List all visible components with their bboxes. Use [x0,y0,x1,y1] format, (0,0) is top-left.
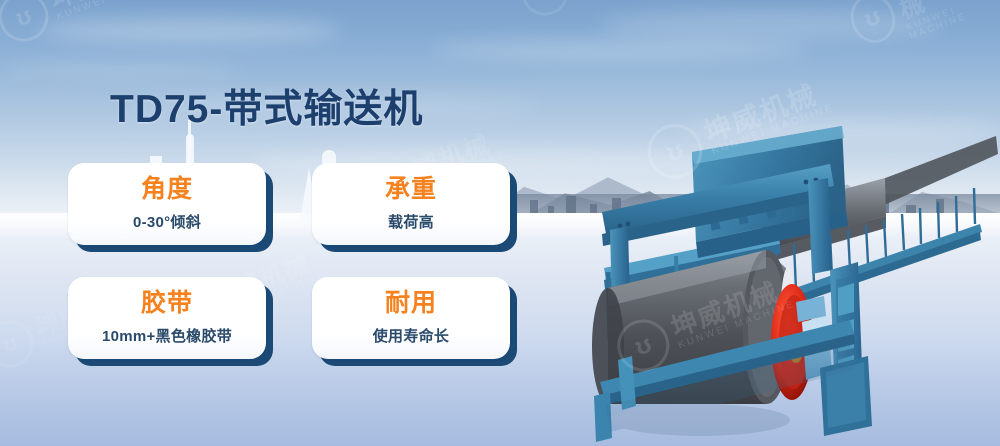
card-title: 承重 [385,176,437,204]
card-title: 角度 [141,176,193,204]
feature-card-belt[interactable]: 胶带 10mm+黑色橡胶带 [68,277,266,359]
cloud-wisp [40,18,340,44]
feature-card-angle[interactable]: 角度 0-30°倾斜 [68,163,266,245]
cloud-wisp [0,62,240,78]
conveyor-product-image [580,120,1000,446]
card-body[interactable]: 承重 载荷高 [312,163,510,245]
page-title: TD75-带式输送机 [110,78,423,134]
card-title: 耐用 [385,290,437,318]
card-title: 胶带 [141,290,193,318]
card-subtitle: 载荷高 [388,211,434,232]
card-subtitle: 0-30°倾斜 [133,211,201,232]
feature-card-durability[interactable]: 耐用 使用寿命长 [312,277,510,359]
feature-card-load[interactable]: 承重 载荷高 [312,163,510,245]
card-body[interactable]: 耐用 使用寿命长 [312,277,510,359]
card-body[interactable]: 胶带 10mm+黑色橡胶带 [68,277,266,359]
cloud-wisp [430,40,810,60]
conveyor-illustration [580,120,1000,446]
product-banner: ʊ 坤威机械 KUNWEI MACHINE ʊ 坤威机械 KUNWEI MACH… [0,0,1000,446]
card-body[interactable]: 角度 0-30°倾斜 [68,163,266,245]
cloud-wisp [600,10,940,40]
card-subtitle: 10mm+黑色橡胶带 [102,325,232,346]
card-subtitle: 使用寿命长 [373,325,450,346]
feature-card-group: 角度 0-30°倾斜 承重 载荷高 胶带 10mm+黑色橡胶带 耐用 使用寿命长 [68,163,538,378]
